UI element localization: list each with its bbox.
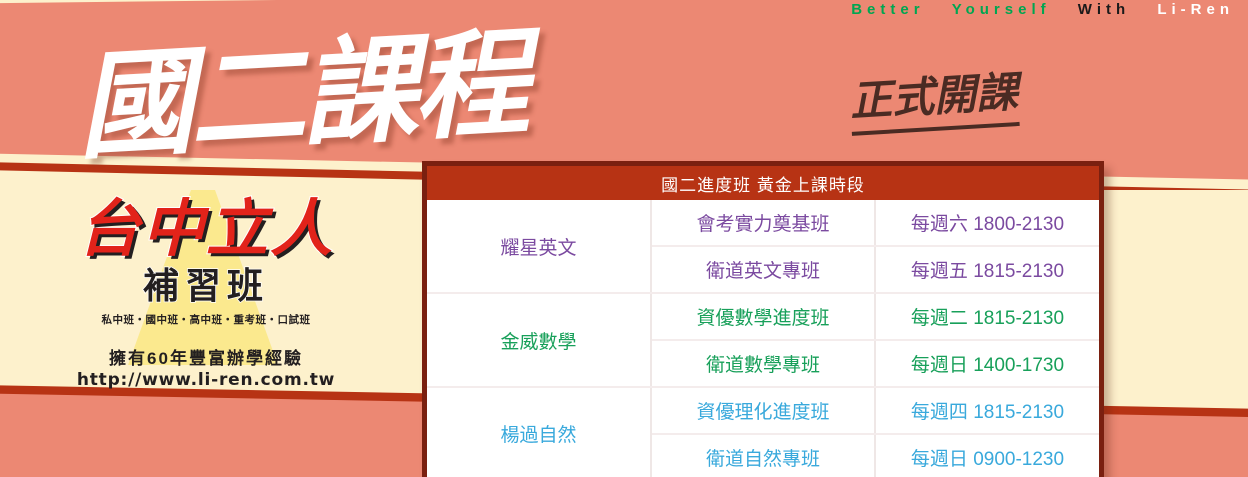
schedule-course-cell: 衛道英文專班 <box>651 246 875 293</box>
table-row: 金威數學資優數學進度班每週二 1815-2130 <box>427 293 1099 340</box>
schedule-time-cell: 每週六 1800-2130 <box>875 200 1099 246</box>
table-row: 楊過自然資優理化進度班每週四 1815-2130 <box>427 387 1099 434</box>
schedule-subject-cell: 金威數學 <box>427 293 651 387</box>
logo-experience: 擁有60年豐富辦學經驗 <box>36 344 376 369</box>
tagline-word-li-ren: Li-Ren <box>1157 1 1234 18</box>
logo-website-url[interactable]: http://www.li-ren.com.tw <box>36 370 376 390</box>
tagline-word-better: Better <box>851 1 924 18</box>
schedule-time-cell: 每週二 1815-2130 <box>875 293 1099 340</box>
logo-class-tags: 私中班・國中班・高中班・重考班・口試班 <box>36 312 376 327</box>
schedule-table: 國二進度班 黃金上課時段 耀星英文會考實力奠基班每週六 1800-2130衛道英… <box>427 166 1099 477</box>
schedule-course-cell: 資優理化進度班 <box>651 387 875 434</box>
tagline-word-yourself: Yourself <box>952 1 1051 18</box>
schedule-header-title: 國二進度班 黃金上課時段 <box>427 166 1099 200</box>
headline-title: 國二課程 <box>72 0 529 182</box>
schedule-subject-cell: 楊過自然 <box>427 387 651 477</box>
schedule-time-cell: 每週五 1815-2130 <box>875 246 1099 293</box>
table-row: 耀星英文會考實力奠基班每週六 1800-2130 <box>427 200 1099 246</box>
headline-subtitle: 正式開課 <box>848 58 1020 136</box>
schedule-time-cell: 每週四 1815-2130 <box>875 387 1099 434</box>
schedule-course-cell: 資優數學進度班 <box>651 293 875 340</box>
tagline: Better Yourself With Li-Ren <box>851 1 1234 18</box>
schedule-time-cell: 每週日 1400-1730 <box>875 340 1099 387</box>
schedule-course-cell: 衛道數學專班 <box>651 340 875 387</box>
schedule-table-head: 國二進度班 黃金上課時段 <box>427 166 1099 200</box>
logo-block: 台中立人 補習班 私中班・國中班・高中班・重考班・口試班 擁有60年豐富辦學經驗… <box>36 196 376 390</box>
schedule-header-row: 國二進度班 黃金上課時段 <box>427 166 1099 200</box>
tagline-word-with: With <box>1078 1 1130 18</box>
promotional-banner: Better Yourself With Li-Ren 國二課程 正式開課 台中… <box>0 0 1248 477</box>
logo-main-text: 台中立人 <box>36 196 376 261</box>
schedule-table-container: 國二進度班 黃金上課時段 耀星英文會考實力奠基班每週六 1800-2130衛道英… <box>422 161 1104 477</box>
schedule-course-cell: 會考實力奠基班 <box>651 200 875 246</box>
schedule-course-cell: 衛道自然專班 <box>651 434 875 477</box>
schedule-subject-cell: 耀星英文 <box>427 200 651 293</box>
schedule-table-body: 耀星英文會考實力奠基班每週六 1800-2130衛道英文專班每週五 1815-2… <box>427 200 1099 477</box>
schedule-time-cell: 每週日 0900-1230 <box>875 434 1099 477</box>
